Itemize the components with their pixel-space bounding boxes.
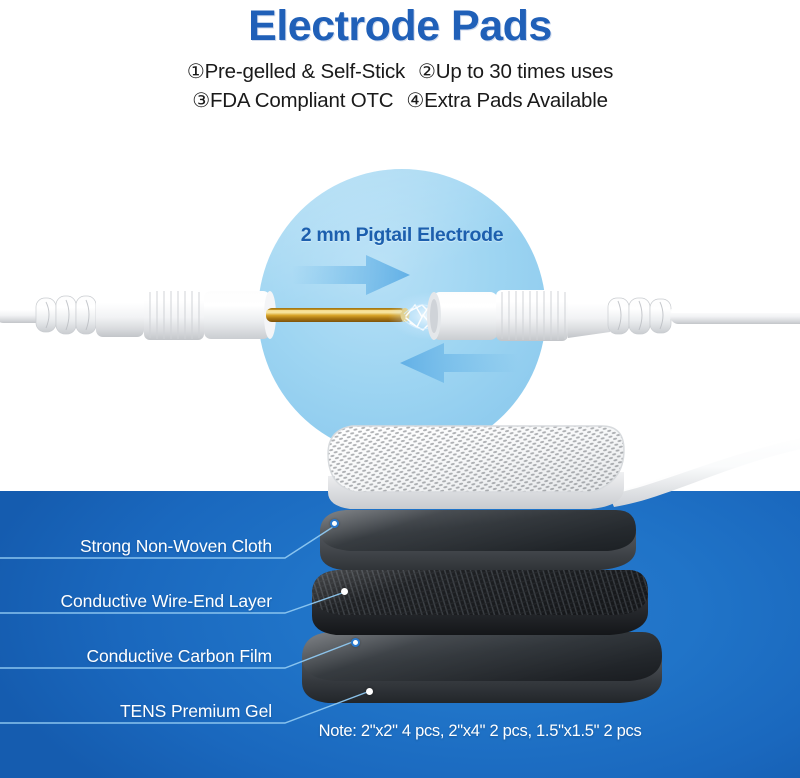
- bullet-item-1: ①Pre-gelled & Self-Stick: [187, 60, 405, 83]
- page-title: Electrode Pads: [0, 2, 800, 51]
- bullet-number-3: ③: [192, 90, 210, 112]
- callout-label-wire-end: Conductive Wire-End Layer: [0, 591, 272, 612]
- callout-label-wire-end-text: Conductive Wire-End Layer: [61, 591, 272, 611]
- bullet-text-1: Pre-gelled & Self-Stick: [205, 60, 405, 83]
- callout-label-gel-text: TENS Premium Gel: [120, 701, 272, 721]
- bullet-item-3: ③FDA Compliant OTC: [192, 89, 393, 112]
- bullet-text-2: Up to 30 times uses: [436, 60, 613, 83]
- infographic-page: Electrode Pads ①Pre-gelled & Self-Stick②…: [0, 0, 800, 778]
- callout-label-carbon-text: Conductive Carbon Film: [86, 646, 272, 666]
- bullet-number-1: ①: [187, 61, 205, 83]
- bullet-item-2: ②Up to 30 times uses: [418, 60, 613, 83]
- bullet-row-2: ③FDA Compliant OTC④Extra Pads Available: [0, 88, 800, 114]
- callout-dot-gel: [366, 688, 373, 695]
- bullet-text-3: FDA Compliant OTC: [210, 89, 393, 112]
- bullet-row-1: ①Pre-gelled & Self-Stick②Up to 30 times …: [0, 59, 800, 85]
- feature-bullets: ①Pre-gelled & Self-Stick②Up to 30 times …: [0, 59, 800, 114]
- bullet-text-4: Extra Pads Available: [424, 89, 608, 112]
- callout-dot-carbon: [351, 638, 360, 647]
- bullet-number-4: ④: [406, 90, 424, 112]
- bullet-item-4: ④Extra Pads Available: [406, 89, 607, 112]
- callout-label-gel: TENS Premium Gel: [0, 701, 272, 722]
- header: Electrode Pads ①Pre-gelled & Self-Stick②…: [0, 0, 800, 130]
- callout-label-cloth-text: Strong Non-Woven Cloth: [80, 536, 272, 556]
- pack-contents-note: Note: 2"x2" 4 pcs, 2"x4" 2 pcs, 1.5"x1.5…: [200, 722, 760, 741]
- callout-label-carbon: Conductive Carbon Film: [0, 646, 272, 667]
- callout-dot-wire-end: [341, 588, 348, 595]
- callout-label-cloth: Strong Non-Woven Cloth: [0, 536, 272, 557]
- bullet-number-2: ②: [418, 61, 436, 83]
- callout-dot-cloth: [330, 519, 339, 528]
